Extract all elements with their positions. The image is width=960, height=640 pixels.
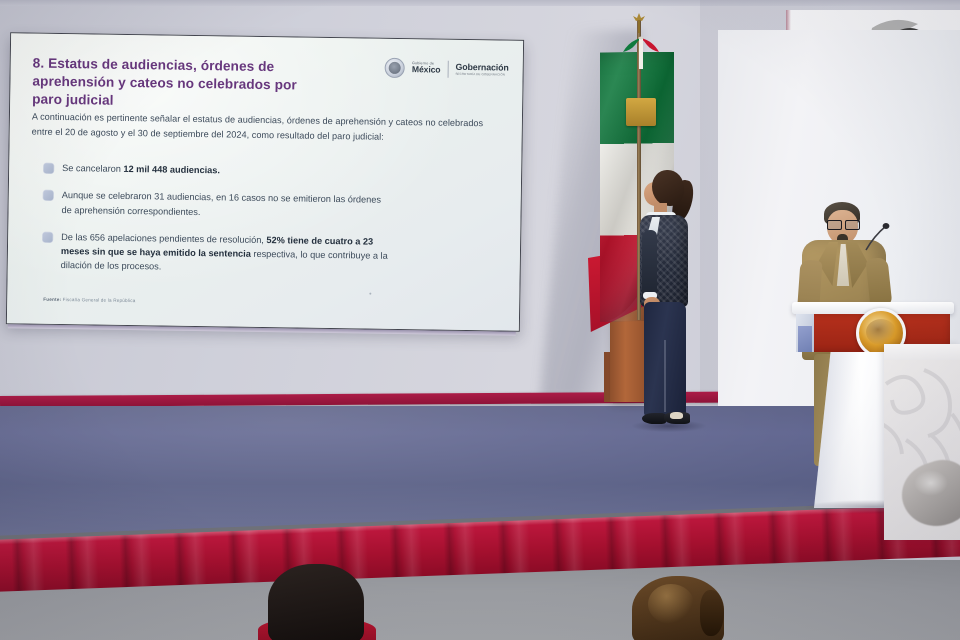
slide-title: 8. Estatus de audiencias, órdenes de apr… (32, 55, 323, 113)
bullet-text: Se cancelaron 12 mil 448 audiencias. (62, 161, 392, 180)
projection-screen: 8. Estatus de audiencias, órdenes de apr… (6, 32, 522, 330)
slide-source: Fuente: Fiscalía General de la República (43, 297, 135, 303)
overlay-face-highlight (914, 470, 948, 496)
glasses-lens-left (827, 220, 842, 230)
standing-woman (630, 170, 716, 442)
audience-person-2-ponytail (700, 590, 724, 636)
source-value: Fiscalía General de la República (63, 297, 136, 303)
slide-corner-dot (369, 293, 371, 295)
woman-hair (652, 170, 684, 206)
audience-person-1-head (268, 564, 364, 640)
podium-band-blue-accent (798, 326, 812, 352)
microphone-icon (864, 222, 890, 252)
list-item: De las 656 apelaciones pendientes de res… (42, 229, 463, 278)
bullet-text: Aunque se celebraron 31 audiencias, en 1… (61, 188, 391, 221)
bullet-text: De las 656 apelaciones pendientes de res… (61, 230, 392, 278)
woman-shoe-toe-cap (670, 412, 683, 419)
government-logo: Gobierno de México Gobernación SECRETARÍ… (385, 58, 509, 80)
audience-person-2-hair-highlight (648, 584, 694, 624)
woman-trouser-crease (664, 340, 666, 412)
slide-bullet-list: Se cancelaron 12 mil 448 audiencias. Aun… (41, 161, 463, 292)
national-seal-icon (385, 58, 405, 78)
slide-intro-paragraph: A continuación es pertinente señalar el … (32, 110, 502, 146)
broadcast-frame: 8. Estatus de audiencias, órdenes de apr… (0, 0, 960, 640)
source-label: Fuente: (43, 297, 61, 302)
bullet-marker-icon (43, 190, 54, 201)
woman-shoe-left (642, 413, 666, 424)
glasses-lens-right (845, 220, 860, 230)
brand-dependency: Gobernación SECRETARÍA DE GOBERNACIÓN (455, 62, 508, 77)
brand-mexico: Gobierno de México (412, 62, 441, 75)
dependency-sub-label: SECRETARÍA DE GOBERNACIÓN (455, 72, 508, 77)
flag-finial-eagle-icon (630, 12, 648, 34)
bullet-marker-icon (42, 231, 53, 242)
flag-pole-plaque (626, 98, 656, 126)
speaker-glasses-icon (827, 220, 859, 228)
list-item: Se cancelaron 12 mil 448 audiencias. (43, 161, 463, 181)
slide-content: 8. Estatus de audiencias, órdenes de apr… (7, 33, 523, 331)
flag-ribbon-bow (618, 34, 664, 74)
overlay-side-panel (884, 344, 960, 540)
brand-large-label: México (412, 66, 441, 75)
logo-divider (447, 60, 448, 77)
screen-frame: 8. Estatus de audiencias, órdenes de apr… (6, 32, 524, 332)
list-item: Aunque se celebraron 31 audiencias, en 1… (42, 188, 462, 223)
bullet-marker-icon (43, 163, 54, 174)
